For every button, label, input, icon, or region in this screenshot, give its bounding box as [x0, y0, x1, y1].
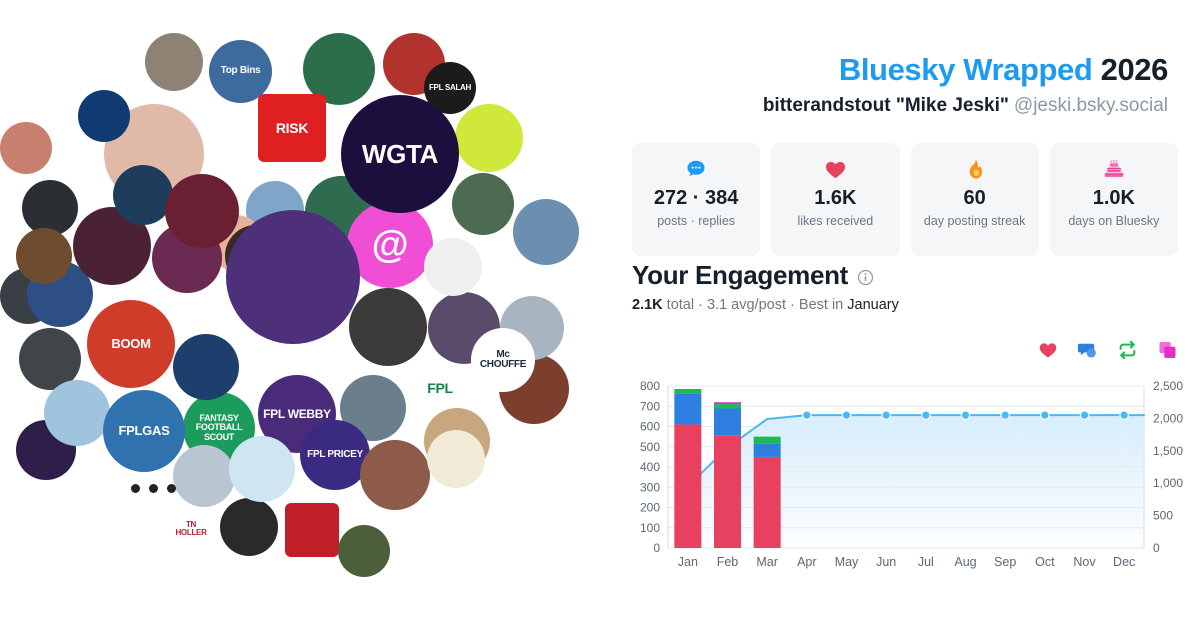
speech-bubble-icon — [685, 156, 707, 182]
engagement-chart: 010020030040050060070080005001,0001,5002… — [624, 378, 1190, 578]
bar-segment-replies — [714, 408, 741, 435]
stat-label: days on Bluesky — [1068, 214, 1159, 229]
avatar: FPLGAS — [103, 390, 185, 472]
bar-segment-reposts — [674, 389, 701, 394]
best-month: January — [847, 297, 899, 313]
wrapped-card: Top BinsFPL SALAHRISKWGTA@BOOMMc CHOUFFE… — [0, 0, 1200, 630]
line-point — [882, 411, 890, 419]
avatar: Mc CHOUFFE — [471, 328, 535, 392]
cumulative-area-edge — [1124, 415, 1144, 548]
year: 2026 — [1101, 52, 1168, 87]
handle: @jeski.bsky.social — [1014, 95, 1168, 116]
separator-2: · — [790, 297, 795, 313]
line-point — [922, 411, 930, 419]
x-tick-label: Aug — [954, 555, 976, 569]
avatar — [285, 503, 339, 557]
bar-segment-likes — [674, 424, 701, 548]
stat-card-days: 1.0K days on Bluesky — [1050, 143, 1178, 256]
y2-tick-label: 2,500 — [1153, 379, 1183, 393]
engagement-header: Your Engagement — [632, 260, 874, 291]
y-tick-label: 600 — [640, 420, 660, 434]
avatar — [22, 180, 78, 236]
line-point — [1041, 411, 1049, 419]
avatar — [427, 430, 485, 488]
y-tick-label: 200 — [640, 501, 660, 515]
y-tick-label: 0 — [653, 541, 660, 555]
avatar — [0, 122, 52, 174]
x-tick-label: Oct — [1035, 555, 1055, 569]
engagement-avg: 3.1 avg/post — [707, 297, 786, 313]
info-circle-icon[interactable] — [857, 269, 874, 286]
bar-segment-likes — [714, 435, 741, 548]
stat-card-streak: 60 day posting streak — [911, 143, 1039, 256]
avatar — [424, 238, 482, 296]
bar-segment-replies — [754, 444, 781, 457]
bar-segment-quotes — [714, 402, 741, 404]
repost-icon[interactable] — [1117, 340, 1138, 365]
x-tick-label: Jul — [918, 555, 934, 569]
avatar — [360, 440, 430, 510]
bar-segment-reposts — [754, 437, 781, 444]
x-tick-label: May — [835, 555, 859, 569]
avatar — [229, 436, 295, 502]
bar-segment-reposts — [714, 404, 741, 408]
quote-icon[interactable] — [1157, 340, 1178, 365]
avatar — [78, 90, 130, 142]
fire-icon — [964, 156, 985, 182]
avatar — [113, 165, 173, 225]
avatar — [16, 228, 72, 284]
avatar — [349, 288, 427, 366]
avatar — [165, 174, 239, 248]
y-tick-label: 500 — [640, 440, 660, 454]
chart-svg: 010020030040050060070080005001,0001,5002… — [624, 378, 1190, 578]
chart-legend — [1038, 340, 1178, 365]
avatar-label: RISK — [258, 94, 326, 162]
header: Bluesky Wrapped 2026 bitterandstout "Mik… — [763, 52, 1168, 117]
avatar — [145, 33, 203, 91]
bar-segment-likes — [754, 457, 781, 548]
best-in-label: Best in — [799, 297, 843, 313]
summary-panel: Bluesky Wrapped 2026 bitterandstout "Mik… — [610, 0, 1200, 630]
avatar-label: WGTA — [341, 95, 459, 213]
avatar: RISK — [258, 94, 326, 162]
y2-tick-label: 1,000 — [1153, 476, 1183, 490]
avatar — [513, 199, 579, 265]
y-tick-label: 300 — [640, 480, 660, 494]
x-tick-label: Feb — [717, 555, 739, 569]
avatar-collage: Top BinsFPL SALAHRISKWGTA@BOOMMc CHOUFFE… — [0, 0, 610, 630]
stat-cards: 272 · 384 posts · replies 1.6K likes rec… — [632, 143, 1178, 256]
section-title: Your Engagement — [632, 260, 848, 291]
x-tick-label: Jan — [678, 555, 698, 569]
avatar: BOOM — [87, 300, 175, 388]
avatar: TN HOLLER — [170, 508, 212, 550]
heart-icon[interactable] — [1038, 340, 1058, 365]
y2-tick-label: 2,000 — [1153, 411, 1183, 425]
avatar-label: BOOM — [87, 300, 175, 388]
reply-bubbles-icon[interactable] — [1077, 340, 1098, 365]
stat-label: likes received — [798, 214, 874, 229]
avatar — [452, 173, 514, 235]
x-tick-label: Apr — [797, 555, 816, 569]
x-tick-label: Mar — [756, 555, 778, 569]
stat-label: day posting streak — [924, 214, 1025, 229]
y2-tick-label: 1,500 — [1153, 444, 1183, 458]
stat-card-likes: 1.6K likes received — [771, 143, 899, 256]
more-avatars-indicator — [131, 484, 176, 493]
x-tick-label: Dec — [1113, 555, 1135, 569]
stat-card-posts: 272 · 384 posts · replies — [632, 143, 760, 256]
y2-tick-label: 500 — [1153, 509, 1173, 523]
engagement-summary: 2.1K total · 3.1 avg/post · Best in Janu… — [632, 297, 899, 313]
avatar — [455, 104, 523, 172]
line-point — [1120, 411, 1128, 419]
page-title: Bluesky Wrapped 2026 — [763, 52, 1168, 88]
stat-value: 1.6K — [814, 187, 856, 210]
line-point — [803, 411, 811, 419]
avatar — [44, 380, 110, 446]
heart-icon — [824, 156, 847, 182]
avatar: WGTA — [341, 95, 459, 213]
avatar — [226, 210, 360, 344]
display-name: bitterandstout "Mike Jeski" — [763, 95, 1009, 116]
x-tick-label: Jun — [876, 555, 896, 569]
cumulative-area — [688, 415, 1124, 548]
y2-tick-label: 0 — [1153, 541, 1160, 555]
y-tick-label: 100 — [640, 521, 660, 535]
account-line: bitterandstout "Mike Jeski"@jeski.bsky.s… — [763, 95, 1168, 117]
line-point — [1001, 411, 1009, 419]
x-tick-label: Nov — [1073, 555, 1096, 569]
bar-segment-replies — [674, 394, 701, 425]
y-tick-label: 700 — [640, 399, 660, 413]
y-tick-label: 800 — [640, 379, 660, 393]
stat-value: 60 — [964, 187, 986, 210]
avatar-label: Mc CHOUFFE — [471, 328, 535, 392]
engagement-total: 2.1K — [632, 297, 663, 313]
stat-value: 1.0K — [1093, 187, 1135, 210]
avatar — [220, 498, 278, 556]
y-tick-label: 400 — [640, 460, 660, 474]
separator-1: · — [698, 297, 703, 313]
avatar-label: FPLGAS — [103, 390, 185, 472]
stat-value: 272 · 384 — [654, 187, 739, 210]
avatar-label: TN HOLLER — [170, 508, 212, 550]
avatar — [338, 525, 390, 577]
line-point — [842, 411, 850, 419]
x-tick-label: Sep — [994, 555, 1016, 569]
line-point — [1080, 411, 1088, 419]
stat-label: posts · replies — [657, 214, 735, 229]
engagement-total-label: total — [667, 297, 694, 313]
brand-name: Bluesky Wrapped — [839, 52, 1093, 87]
line-point — [961, 411, 969, 419]
cake-icon — [1102, 156, 1126, 182]
